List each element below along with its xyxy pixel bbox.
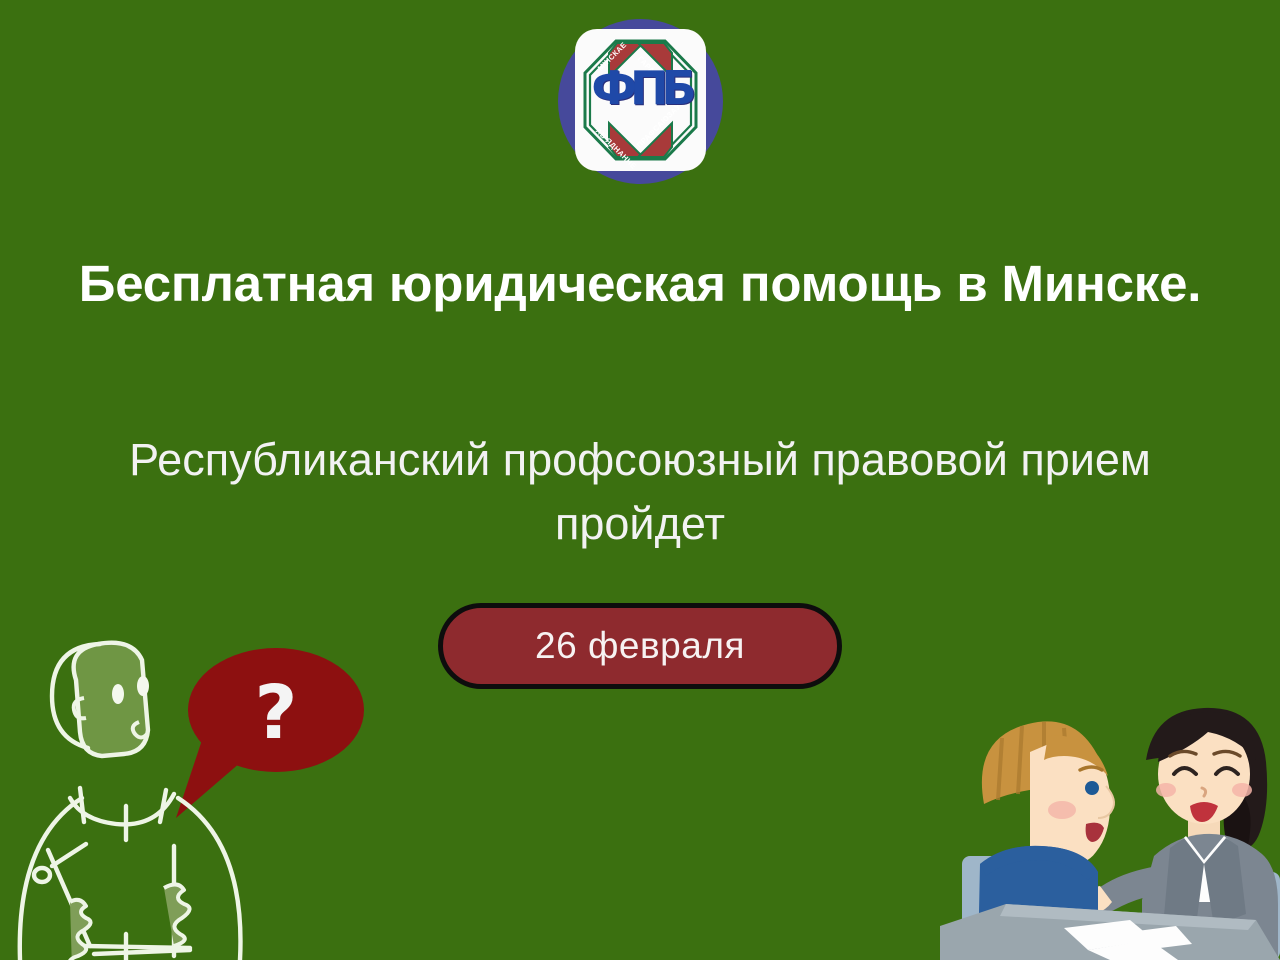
legal-consultation-illustration (940, 688, 1280, 960)
organization-logo: МІНСКАЕ ГАРАДСКОЕ АБ'ЯДНАННЕ ПРАФСАЮЗАЎ … (545, 14, 735, 189)
logo-monogram: ФПБ (575, 29, 706, 171)
question-mark-glyph: ? (255, 670, 298, 756)
person-head (52, 643, 149, 756)
event-date-badge: 26 февраля (438, 603, 842, 689)
poster-subheadline: Республиканский профсоюзный правовой при… (0, 428, 1280, 556)
event-date-label: 26 февраля (535, 625, 745, 667)
poster-headline: Бесплатная юридическая помощь в Минске. (0, 252, 1280, 316)
logo-card: МІНСКАЕ ГАРАДСКОЕ АБ'ЯДНАННЕ ПРАФСАЮЗАЎ … (575, 29, 706, 171)
speech-bubble: ? (176, 648, 364, 818)
person-with-question-illustration: ? (8, 630, 388, 960)
poster-root: МІНСКАЕ ГАРАДСКОЕ АБ'ЯДНАННЕ ПРАФСАЮЗАЎ … (0, 0, 1280, 960)
person-body-outline (20, 788, 241, 960)
logo-monogram-text: ФПБ (575, 65, 706, 111)
